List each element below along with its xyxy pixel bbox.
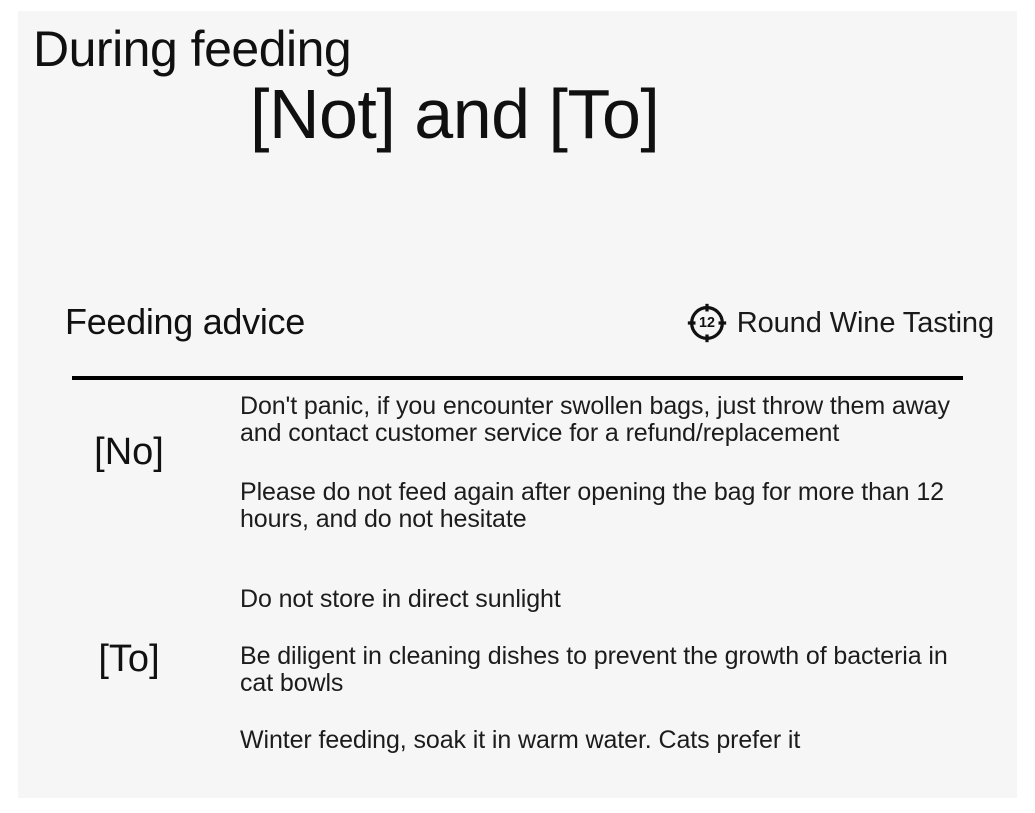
advice-row-items: Do not store in direct sunlight Be dilig… — [240, 586, 1017, 754]
advice-item: Do not store in direct sunlight — [240, 586, 975, 613]
advice-row-label: [To] — [18, 586, 240, 682]
section-header: Feeding advice 12 Round Wine Tasting — [18, 297, 1017, 359]
advice-item: Be diligent in cleaning dishes to preven… — [240, 643, 975, 697]
advice-row-items: Don't panic, if you encounter swollen ba… — [240, 393, 1017, 533]
advice-rows: [No] Don't panic, if you encounter swoll… — [18, 393, 1017, 754]
advice-item: Don't panic, if you encounter swollen ba… — [240, 393, 975, 447]
section-tag: 12 Round Wine Tasting — [684, 301, 994, 345]
page-title-line-1: During feeding — [33, 20, 351, 78]
section-tag-label: Round Wine Tasting — [737, 306, 994, 340]
slide-panel: During feeding [Not] and [To] Feeding ad… — [18, 11, 1017, 798]
page-title-line-2: [Not] and [To] — [250, 71, 659, 157]
section-heading: Feeding advice — [65, 297, 305, 347]
advice-row-to: [To] Do not store in direct sunlight Be … — [18, 586, 1017, 754]
advice-item: Please do not feed again after opening t… — [240, 479, 975, 533]
svg-text:12: 12 — [699, 315, 715, 331]
clock-12-hour-icon: 12 — [684, 300, 730, 346]
section-divider — [72, 376, 963, 380]
advice-row-no: [No] Don't panic, if you encounter swoll… — [18, 393, 1017, 533]
title-block: During feeding [Not] and [To] — [18, 11, 1017, 186]
advice-item: Winter feeding, soak it in warm water. C… — [240, 727, 975, 754]
advice-row-label: [No] — [18, 393, 240, 475]
